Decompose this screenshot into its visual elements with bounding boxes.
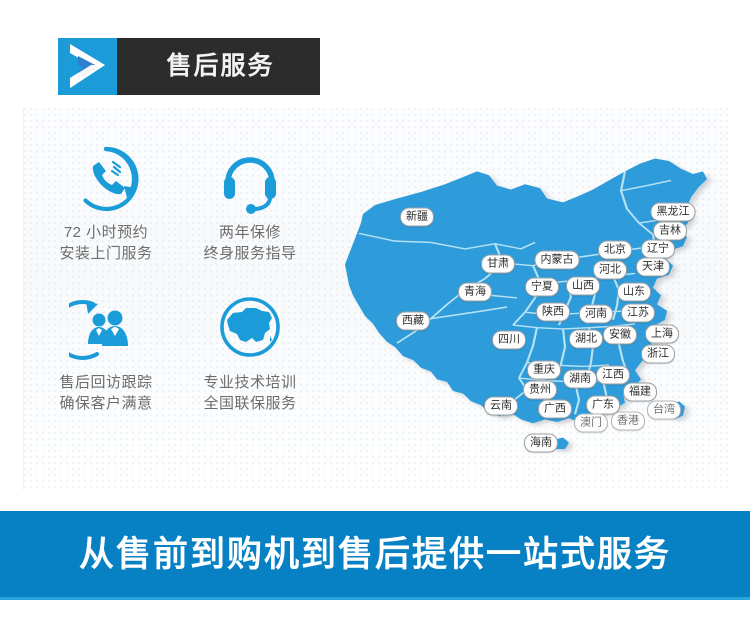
province-label: 西藏 bbox=[396, 312, 430, 331]
feature-item-training: 专业技术培训全国联保服务 bbox=[175, 286, 325, 414]
province-label: 湖南 bbox=[563, 370, 597, 389]
play-arrow-logo-icon bbox=[58, 38, 117, 95]
page-root: 售后服务 72 小时预约安装上门服务 bbox=[0, 0, 750, 636]
province-label: 宁夏 bbox=[525, 277, 559, 296]
people-feedback-icon bbox=[31, 286, 181, 372]
page-title: 售后服务 bbox=[162, 54, 274, 79]
feature-item-warranty: 两年保修终身服务指导 bbox=[175, 136, 325, 264]
section-header: 售后服务 bbox=[58, 38, 320, 95]
province-label: 香港 bbox=[611, 412, 645, 431]
province-label: 上海 bbox=[645, 325, 679, 344]
province-label: 新疆 bbox=[400, 207, 434, 226]
province-label: 澳门 bbox=[574, 414, 608, 433]
province-label: 山西 bbox=[566, 277, 600, 296]
banner-text: 从售前到购机到售后提供一站式服务 bbox=[79, 537, 671, 572]
feature-line-2: 安装上门服务 bbox=[59, 245, 152, 262]
province-label: 海南 bbox=[524, 433, 558, 452]
province-label: 四川 bbox=[492, 330, 526, 349]
province-label: 江苏 bbox=[621, 303, 655, 322]
province-label: 甘肃 bbox=[481, 254, 515, 273]
province-label: 天津 bbox=[636, 257, 670, 276]
feature-caption: 售后回访跟踪确保客户满意 bbox=[31, 372, 181, 414]
province-label: 福建 bbox=[623, 383, 657, 402]
feature-caption: 专业技术培训全国联保服务 bbox=[175, 372, 325, 414]
bottom-banner: 从售前到购机到售后提供一站式服务 bbox=[0, 511, 750, 597]
province-label: 吉林 bbox=[653, 221, 687, 240]
china-map-circle-icon bbox=[175, 286, 325, 372]
province-label: 黑龙江 bbox=[651, 203, 696, 222]
feature-item-installation: 72 小时预约安装上门服务 bbox=[31, 136, 181, 264]
province-label: 湖北 bbox=[569, 330, 603, 349]
china-service-coverage-map: 新疆甘肃内蒙古青海西藏宁夏山西陕西河南北京辽宁河北天津黑龙江吉林山东江苏安徽上海… bbox=[335, 152, 743, 462]
province-label: 广东 bbox=[586, 396, 620, 415]
province-label: 河北 bbox=[593, 261, 627, 280]
province-label: 重庆 bbox=[527, 360, 561, 379]
feature-line-1: 专业技术培训 bbox=[203, 374, 296, 391]
province-label: 陕西 bbox=[536, 303, 570, 322]
province-label: 河南 bbox=[579, 305, 613, 324]
feature-line-2: 确保客户满意 bbox=[59, 395, 152, 412]
feature-line-2: 全国联保服务 bbox=[203, 395, 296, 412]
province-label: 江西 bbox=[596, 365, 630, 384]
province-label: 安徽 bbox=[603, 325, 637, 344]
province-label: 浙江 bbox=[641, 345, 675, 364]
feature-line-2: 终身服务指导 bbox=[203, 245, 296, 262]
feature-line-1: 72 小时预约 bbox=[64, 224, 148, 241]
banner-underline bbox=[0, 597, 750, 600]
province-label: 贵州 bbox=[523, 380, 557, 399]
province-label: 台湾 bbox=[647, 401, 681, 420]
province-label: 山东 bbox=[617, 283, 651, 302]
province-label: 青海 bbox=[458, 282, 492, 301]
province-label: 北京 bbox=[598, 241, 632, 260]
province-label: 广西 bbox=[538, 400, 572, 419]
feature-line-1: 售后回访跟踪 bbox=[59, 374, 152, 391]
province-label: 内蒙古 bbox=[535, 250, 580, 269]
feature-line-1: 两年保修 bbox=[219, 224, 281, 241]
province-label: 辽宁 bbox=[641, 239, 675, 258]
feature-list: 72 小时预约安装上门服务 两年保修终身服务指导 bbox=[23, 128, 323, 458]
feature-caption: 两年保修终身服务指导 bbox=[175, 222, 325, 264]
headset-icon bbox=[175, 136, 325, 222]
province-label: 云南 bbox=[484, 396, 518, 415]
feature-caption: 72 小时预约安装上门服务 bbox=[31, 222, 181, 264]
feature-item-followup: 售后回访跟踪确保客户满意 bbox=[31, 286, 181, 414]
header-title-bar: 售后服务 bbox=[117, 38, 320, 95]
phone-callback-icon bbox=[31, 136, 181, 222]
